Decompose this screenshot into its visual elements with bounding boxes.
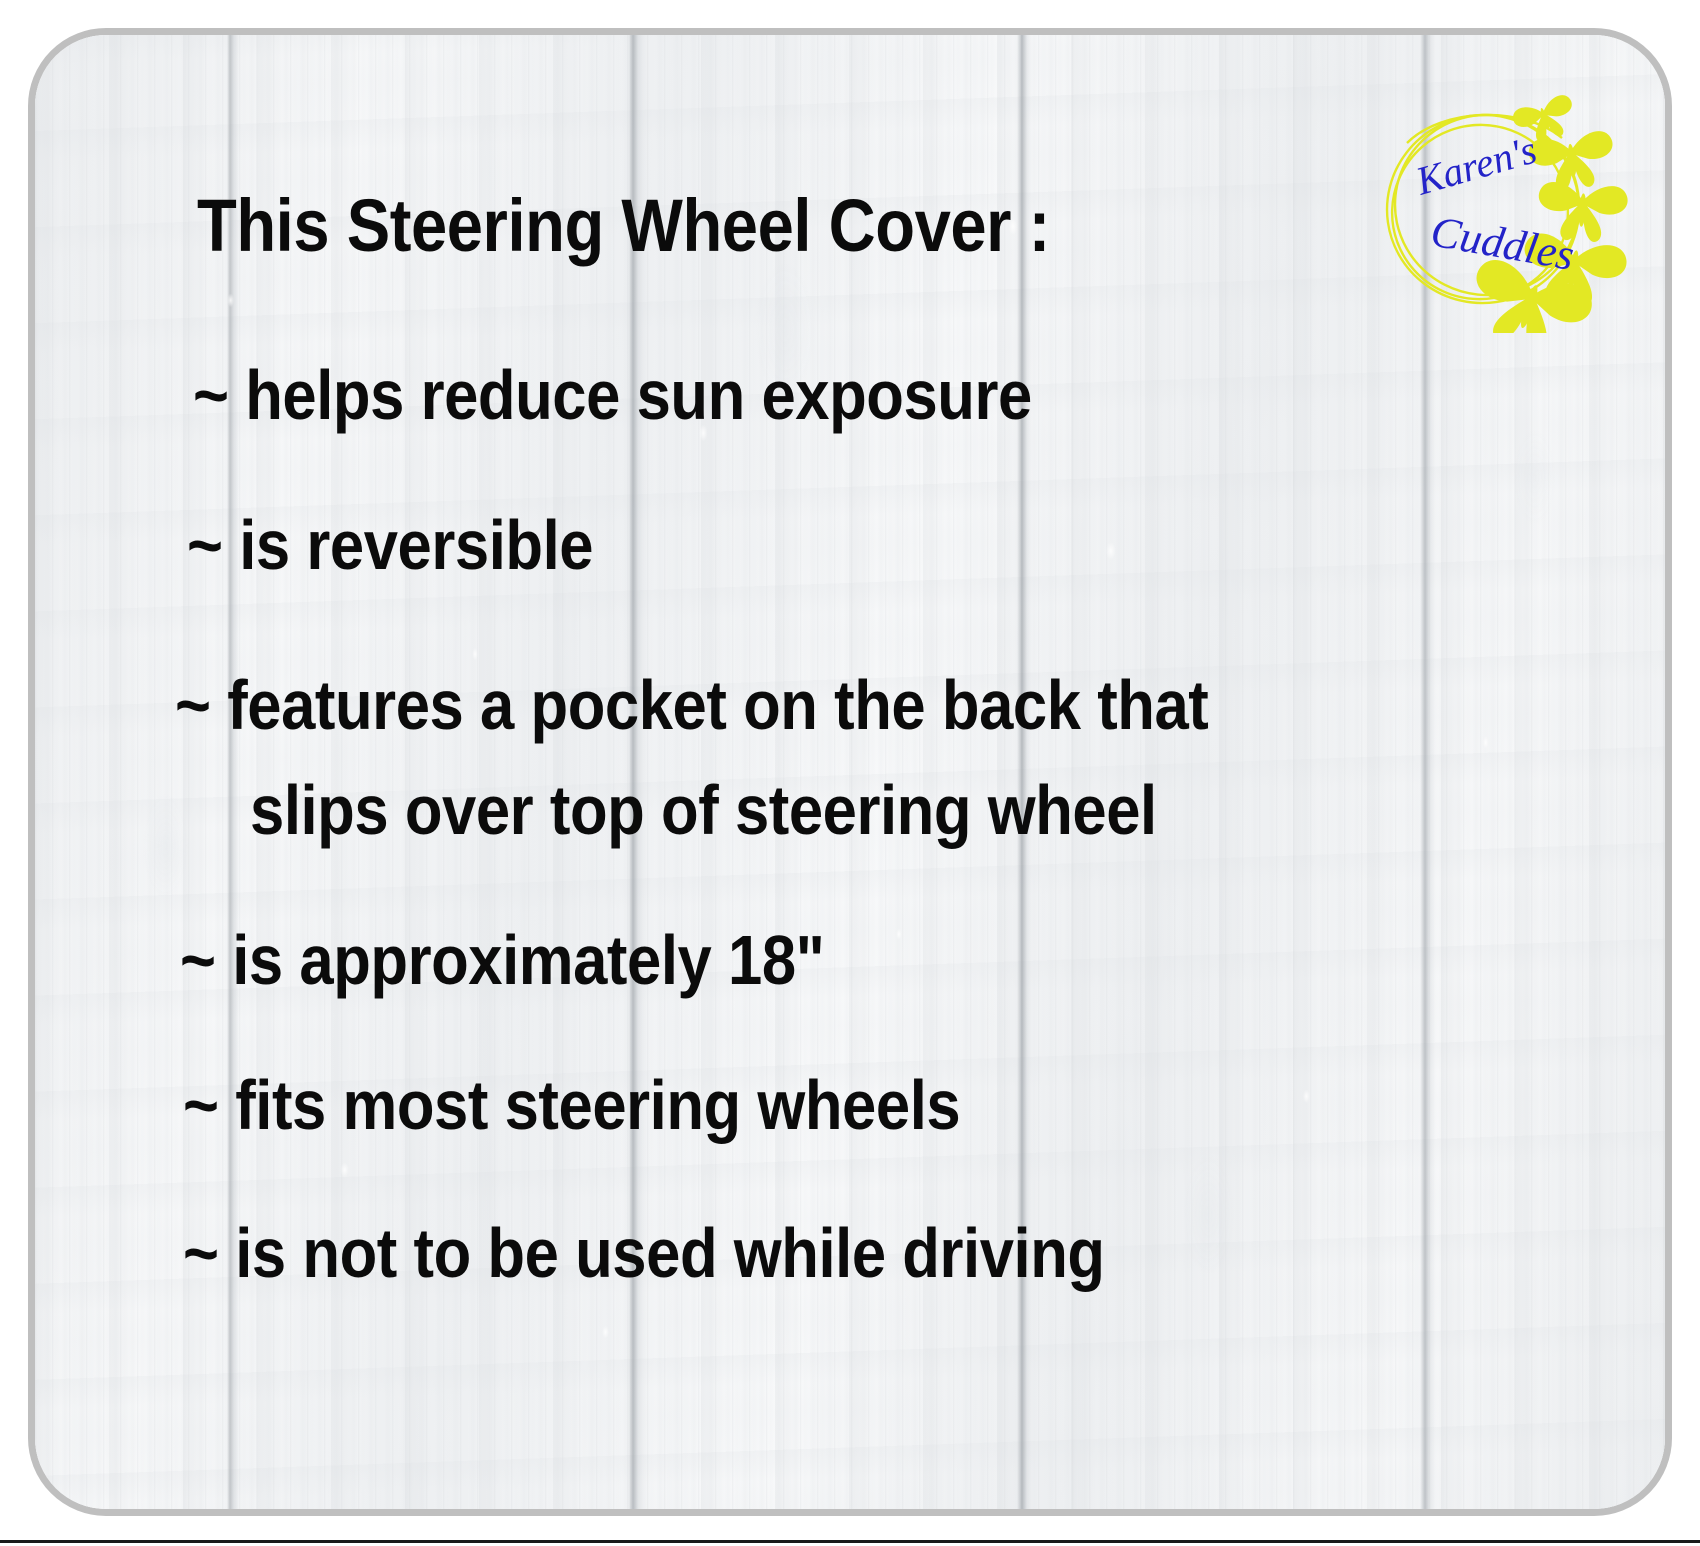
footer-divider xyxy=(0,1540,1700,1543)
image-canvas: This Steering Wheel Cover : ~ helps redu… xyxy=(0,0,1700,1546)
bullet-reversible: ~ is reversible xyxy=(187,505,593,585)
page-title: This Steering Wheel Cover : xyxy=(197,183,1050,268)
product-info-card: This Steering Wheel Cover : ~ helps redu… xyxy=(28,28,1672,1516)
bullet-size: ~ is approximately 18" xyxy=(180,920,824,1000)
bullet-pocket-line-2: slips over top of steering wheel xyxy=(250,770,1157,850)
bullet-sun-exposure: ~ helps reduce sun exposure xyxy=(193,355,1032,435)
brand-logo: Karen's Cuddles xyxy=(1347,83,1637,333)
logo-butterfly-group xyxy=(1460,93,1630,333)
bullet-fits: ~ fits most steering wheels xyxy=(183,1065,960,1145)
logo-brand-line-1: Karen's xyxy=(1410,127,1541,204)
bullet-pocket-line-1: ~ features a pocket on the back that xyxy=(175,665,1208,745)
brand-logo-svg: Karen's Cuddles xyxy=(1347,83,1637,333)
bullet-not-while-driving: ~ is not to be used while driving xyxy=(183,1213,1105,1293)
